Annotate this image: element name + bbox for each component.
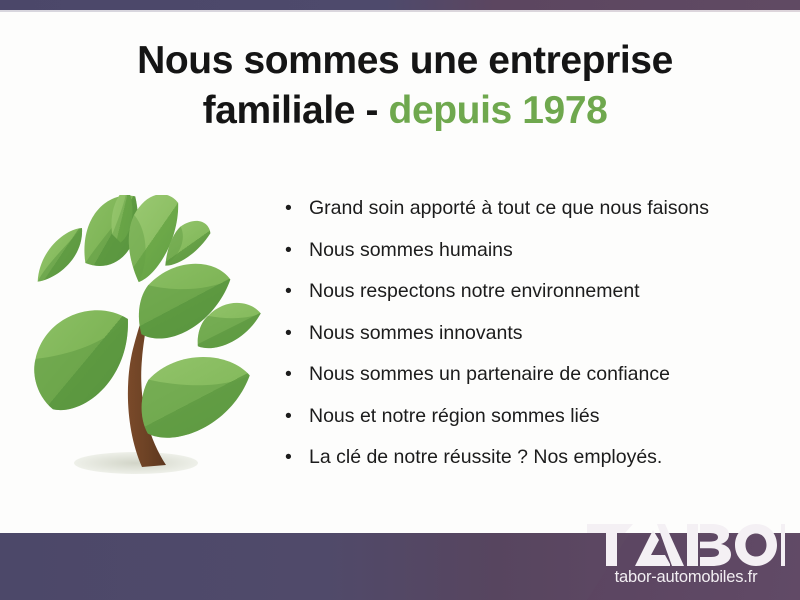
list-item: •Grand soin apporté à tout ce que nous f…: [283, 188, 763, 230]
tree-leaf: [28, 307, 136, 413]
title-line-2-black: familiale -: [203, 89, 389, 132]
title-line-2-green: depuis 1978: [389, 89, 608, 132]
list-item-label: Nous respectons notre environnement: [309, 280, 640, 302]
list-item-label: Nous sommes humains: [309, 239, 513, 261]
tree-shadow: [74, 452, 198, 474]
list-item: •La clé de notre réussite ? Nos employés…: [283, 437, 763, 479]
bullet-marker: •: [285, 396, 292, 438]
list-item-label: Nous sommes innovants: [309, 322, 523, 344]
page-title: Nous sommes une entreprise familiale - d…: [60, 36, 750, 136]
list-item: •Nous respectons notre environnement: [283, 271, 763, 313]
bullet-marker: •: [285, 354, 292, 396]
list-item: •Nous sommes humains: [283, 230, 763, 272]
brand-website[interactable]: tabor-automobiles.fr: [580, 567, 792, 587]
bullet-marker: •: [285, 188, 292, 230]
value-bullet-list: •Grand soin apporté à tout ce que nous f…: [283, 188, 763, 479]
top-accent-bar: [0, 0, 800, 10]
list-item: •Nous sommes un partenaire de confiance: [283, 354, 763, 396]
tabor-wordmark-icon: [587, 524, 785, 566]
list-item-label: La clé de notre réussite ? Nos employés.: [309, 446, 662, 468]
list-item-label: Grand soin apporté à tout ce que nous fa…: [309, 197, 709, 219]
brand-logo[interactable]: tabor-automobiles.fr: [580, 524, 792, 592]
list-item: •Nous et notre région sommes liés: [283, 396, 763, 438]
list-item: •Nous sommes innovants: [283, 313, 763, 355]
list-item-label: Nous sommes un partenaire de confiance: [309, 363, 670, 385]
bullet-marker: •: [285, 271, 292, 313]
top-accent-hairline: [0, 10, 800, 12]
slide-canvas: Nous sommes une entreprise familiale - d…: [0, 0, 800, 600]
tree-illustration: [18, 195, 268, 485]
bullet-marker: •: [285, 437, 292, 479]
bullet-marker: •: [285, 230, 292, 272]
bullet-marker: •: [285, 313, 292, 355]
title-line-1: Nous sommes une entreprise: [137, 39, 673, 82]
list-item-label: Nous et notre région sommes liés: [309, 405, 599, 427]
